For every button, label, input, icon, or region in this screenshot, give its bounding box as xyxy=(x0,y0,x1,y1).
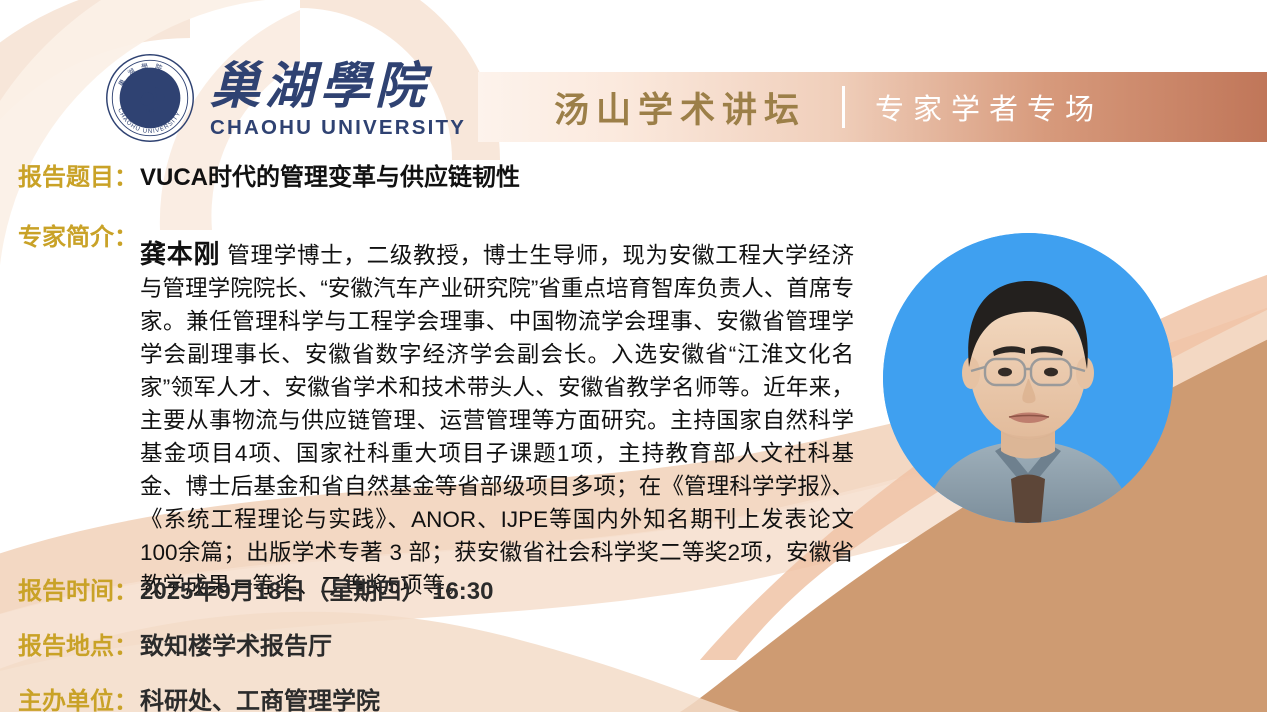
lecture-place-row: 报告地点： 致知楼学术报告厅 xyxy=(18,626,332,661)
lecture-host-value: 科研处、工商管理学院 xyxy=(140,681,380,712)
university-logo: 1977 巢 湖 學 院 CHAOHU UNIVERSITY 巢湖學院 CHAO… xyxy=(104,52,466,144)
speaker-portrait-image xyxy=(883,233,1173,523)
lecture-title-label: 报告题目： xyxy=(18,157,138,192)
lecture-title-row: 报告题目： VUCA时代的管理变革与供应链韧性 xyxy=(18,157,520,192)
speaker-bio-row: 专家简介： 龚本刚 管理学博士，二级教授，博士生导师，现为安徽工程大学经济与管理… xyxy=(18,215,878,624)
forum-banner: 汤山学术讲坛 专家学者专场 xyxy=(478,72,1267,142)
svg-text:1977: 1977 xyxy=(145,109,155,114)
poster-canvas: 1977 巢 湖 學 院 CHAOHU UNIVERSITY 巢湖學院 CHAO… xyxy=(0,0,1267,712)
forum-title: 汤山学术讲坛 xyxy=(554,82,806,133)
forum-subtitle: 专家学者专场 xyxy=(875,86,1103,128)
lecture-place-label: 报告地点： xyxy=(18,626,138,661)
lecture-time-value: 2025年9月18日（星期四） 16:30 xyxy=(140,571,493,606)
speaker-bio-text: 管理学博士，二级教授，博士生导师，现为安徽工程大学经济与管理学院院长、“安徽汽车… xyxy=(140,243,854,598)
chaohu-university-emblem-icon: 1977 巢 湖 學 院 CHAOHU UNIVERSITY xyxy=(104,52,196,144)
lecture-time-label: 报告时间： xyxy=(18,571,138,606)
university-name-cn: 巢湖學院 xyxy=(210,61,466,111)
lecture-host-label: 主办单位： xyxy=(18,681,138,712)
banner-divider xyxy=(842,86,845,128)
speaker-bio-paragraph: 龚本刚 管理学博士，二级教授，博士生导师，现为安徽工程大学经济与管理学院院长、“… xyxy=(140,238,854,602)
lecture-time-row: 报告时间： 2025年9月18日（星期四） 16:30 xyxy=(18,571,493,606)
speaker-bio-body: 龚本刚 管理学博士，二级教授，博士生导师，现为安徽工程大学经济与管理学院院长、“… xyxy=(140,215,854,624)
lecture-title-value: VUCA时代的管理变革与供应链韧性 xyxy=(140,157,520,192)
university-name-en: CHAOHU UNIVERSITY xyxy=(210,116,466,140)
speaker-portrait xyxy=(883,233,1173,523)
speaker-bio-label: 专家简介： xyxy=(18,215,138,252)
lecture-place-value: 致知楼学术报告厅 xyxy=(140,626,332,661)
lecture-host-row: 主办单位： 科研处、工商管理学院 xyxy=(18,681,380,712)
speaker-name: 龚本刚 xyxy=(140,239,220,269)
